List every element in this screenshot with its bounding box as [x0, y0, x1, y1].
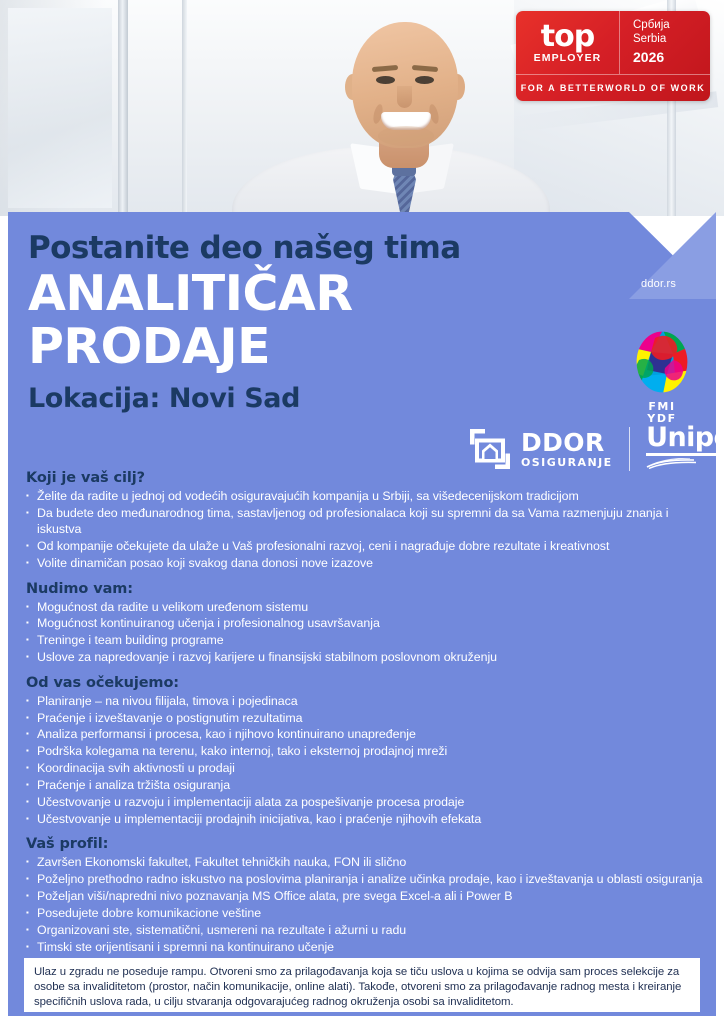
person-eye-right [415, 76, 434, 84]
list-item: Učestvovanje u razvoju i implementaciji … [26, 794, 706, 810]
list-item: Učestvovanje u implementaciji prodajnih … [26, 811, 706, 827]
job-title-line2: PRODAJE [28, 322, 498, 372]
badge-top-word: top [541, 23, 594, 51]
unipol-underline [646, 453, 724, 456]
ddor-house-icon [468, 427, 512, 471]
list-item: Želite da radite u jednoj od vodećih osi… [26, 488, 706, 504]
section-heading: Koji je vaš cilj? [26, 470, 706, 486]
window-frame-b [182, 0, 187, 216]
list-item: Timski ste orijentisani i spremni na kon… [26, 939, 706, 955]
job-title-line1: ANALITIČAR [28, 265, 353, 322]
list-item: Volite dinamičan posao koji svakog dana … [26, 555, 706, 571]
list-item: Da budete deo međunarodnog tima, sastavl… [26, 505, 706, 538]
job-ad-poster: top EMPLOYER Србија Serbia 2026 FOR A BE… [0, 0, 724, 1024]
badge-country-block: Србија Serbia 2026 [620, 11, 710, 74]
window-pane-left [8, 8, 112, 208]
list-item: Planiranje – na nivou filijala, timova i… [26, 693, 706, 709]
accessibility-note: Ulaz u zgradu ne poseduje rampu. Otvoren… [24, 958, 700, 1012]
ddor-wordmark: DDOR OSIGURANJE [521, 430, 613, 468]
list-item: Uslove za napredovanje i razvoj karijere… [26, 649, 706, 665]
list-item: Završen Ekonomski fakultet, Fakultet teh… [26, 854, 706, 870]
badge-tagline-bold: WORLD OF WORK [605, 83, 705, 93]
list-item: Organizovani ste, sistematični, usmereni… [26, 922, 706, 938]
unipol-logo: Unipol [646, 424, 724, 474]
ddor-subtitle: OSIGURANJE [521, 457, 613, 468]
badge-upper: top EMPLOYER Србија Serbia 2026 [516, 11, 710, 74]
list-item: Od kompanije očekujete da ulaže u Vaš pr… [26, 538, 706, 554]
brand-divider [629, 427, 631, 471]
list-item: Podrška kolegama na terenu, kako interno… [26, 743, 706, 759]
badge-tagline: FOR A BETTER WORLD OF WORK [516, 74, 710, 101]
window-frame-a [118, 0, 128, 216]
fmi-label-line1: FMI [633, 401, 691, 413]
badge-country-latin: Serbia [633, 33, 710, 47]
job-location: Lokacija: Novi Sad [28, 383, 498, 414]
section-heading: Nudimo vam: [26, 581, 706, 597]
section-offer: Nudimo vam: Mogućnost da radite u veliko… [26, 581, 706, 666]
badge-year: 2026 [633, 49, 710, 66]
section-list: Mogućnost da radite u velikom uređenom s… [26, 599, 706, 666]
badge-country-cyrillic: Србија [633, 19, 710, 33]
list-item: Mogućnost da radite u velikom uređenom s… [26, 599, 706, 615]
section-heading: Od vas očekujemo: [26, 675, 706, 691]
person-nose [397, 86, 412, 108]
list-item: Posedujete dobre komunikacione veštine [26, 905, 706, 921]
brand-lockup: DDOR OSIGURANJE Unipol [468, 424, 724, 474]
list-item: Mogućnost kontinuiranog učenja i profesi… [26, 615, 706, 631]
list-item: Treninge i team building programe [26, 632, 706, 648]
website-url[interactable]: ddor.rs [641, 278, 676, 290]
unipol-wave-icon [646, 458, 698, 469]
job-description: Koji je vaš cilj? Želite da radite u jed… [26, 470, 706, 998]
colored-sphere-icon [633, 330, 691, 394]
fmi-ydf-logo: FMI YDF [633, 330, 697, 428]
section-list: Planiranje – na nivou filijala, timova i… [26, 693, 706, 828]
badge-logo-block: top EMPLOYER [516, 11, 620, 74]
badge-employer-word: EMPLOYER [534, 52, 602, 64]
list-item: Praćenje i izveštavanje o postignutim re… [26, 710, 706, 726]
section-heading: Vaš profil: [26, 836, 706, 852]
badge-tagline-light: FOR A BETTER [521, 83, 605, 93]
fmi-ydf-label: FMI YDF [633, 401, 691, 424]
top-employer-badge: top EMPLOYER Србија Serbia 2026 FOR A BE… [516, 11, 710, 101]
unipol-name: Unipol [646, 424, 724, 451]
job-title: ANALITIČAR PRODAJE [28, 269, 498, 372]
section-expectations: Od vas očekujemo: Planiranje – na nivou … [26, 675, 706, 828]
ddor-name: DDOR [521, 430, 613, 455]
list-item: Poželjno prethodno radno iskustvo na pos… [26, 871, 706, 887]
list-item: Praćenje i analiza tržišta osiguranja [26, 777, 706, 793]
list-item: Poželjan viši/napredni nivo poznavanja M… [26, 888, 706, 904]
section-goal: Koji je vaš cilj? Želite da radite u jed… [26, 470, 706, 572]
person-eye-left [376, 76, 395, 84]
list-item: Analiza performansi i procesa, kao i nji… [26, 726, 706, 742]
person-chin [378, 126, 434, 146]
headline-block: Postanite deo našeg tima ANALITIČAR PROD… [28, 232, 498, 414]
headline-kicker: Postanite deo našeg tima [28, 232, 498, 264]
section-list: Želite da radite u jednoj od vodećih osi… [26, 488, 706, 572]
list-item: Koordinacija svih aktivnosti u prodaji [26, 760, 706, 776]
